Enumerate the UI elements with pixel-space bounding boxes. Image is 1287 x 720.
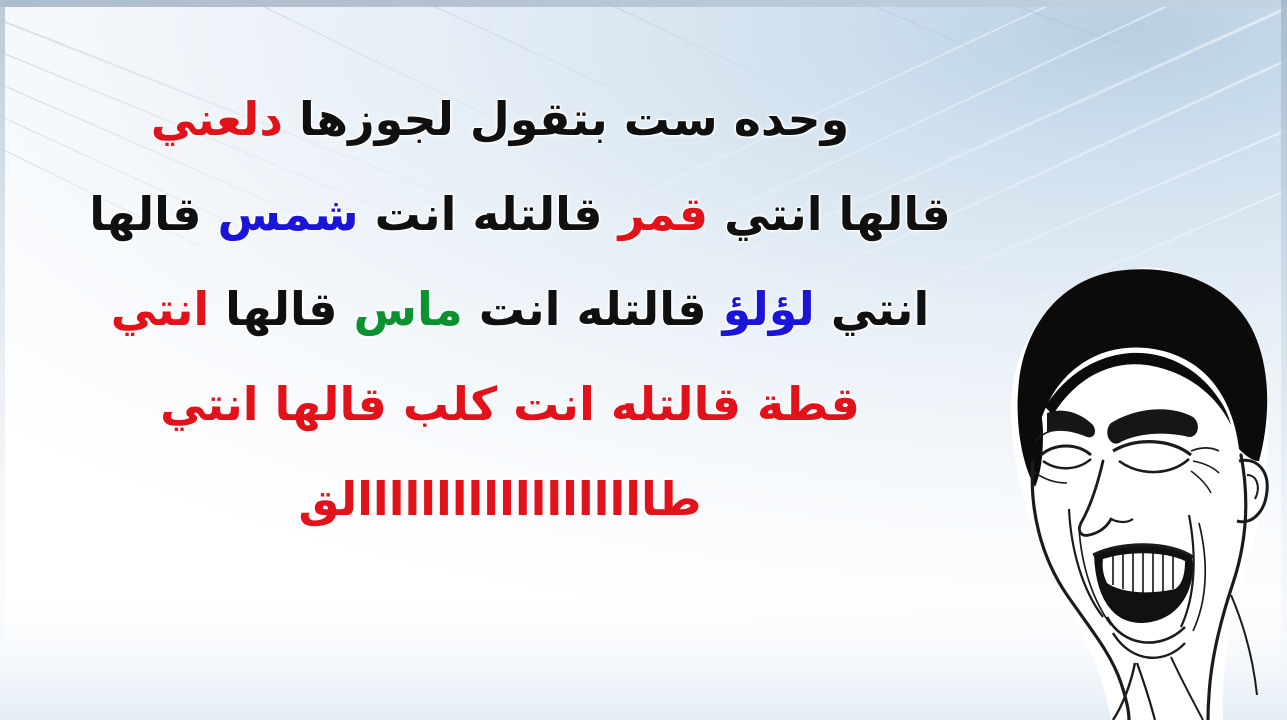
joke-line-2-seg-2: قمر <box>619 187 709 241</box>
joke-line-3-seg-5: قالها <box>209 282 353 336</box>
joke-line-5-punchline: طااااااااااااااااااالق <box>0 476 1040 522</box>
joke-text-block: وحده ست بتقول لجوزها دلعني قالها انتي قم… <box>0 96 1040 522</box>
meme-image-canvas: وحده ست بتقول لجوزها دلعني قالها انتي قم… <box>0 0 1287 720</box>
joke-line-4: قطة قالتله انت كلب قالها انتي <box>0 381 1040 427</box>
joke-line-3: انتي لؤلؤ قالتله انت ماس قالها انتي <box>0 286 1040 332</box>
background-bottom-tint <box>0 600 1287 720</box>
joke-line-2-seg-1: قالها انتي <box>708 187 951 241</box>
joke-line-3-seg-2: لؤلؤ <box>723 282 815 336</box>
joke-line-1-seg-1: وحده ست بتقول لجوزها <box>283 92 849 146</box>
joke-line-5-seg-1: طااااااااااااااااااالق <box>298 472 701 526</box>
joke-line-3-seg-6: انتي <box>111 282 209 336</box>
background-top-band <box>0 0 1287 7</box>
joke-line-4-seg-1: قطة قالتله انت كلب قالها انتي <box>160 377 860 431</box>
joke-line-3-seg-3: قالتله انت <box>463 282 723 336</box>
joke-line-2-seg-5: قالها <box>89 187 217 241</box>
joke-line-2-seg-3: قالتله انت <box>359 187 619 241</box>
joke-line-1: وحده ست بتقول لجوزها دلعني <box>0 96 1040 142</box>
joke-line-3-seg-4: ماس <box>353 282 462 336</box>
joke-line-3-seg-1: انتي <box>815 282 929 336</box>
joke-line-2: قالها انتي قمر قالتله انت شمس قالها <box>0 191 1040 237</box>
joke-line-2-seg-4: شمس <box>218 187 359 241</box>
joke-line-1-seg-2: دلعني <box>151 92 283 146</box>
